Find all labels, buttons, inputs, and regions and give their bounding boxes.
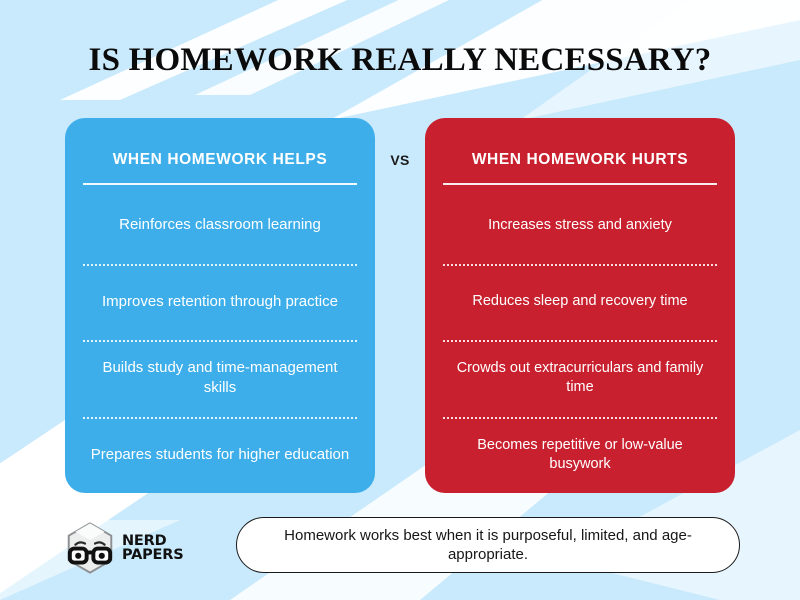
caption-text: Homework works best when it is purposefu… <box>263 526 713 565</box>
pros-panel-header: WHEN HOMEWORK HELPS <box>79 118 361 183</box>
footer: NERD PAPERS Homework works best when it … <box>0 505 800 600</box>
page-title: IS HOMEWORK REALLY NECESSARY? <box>0 42 800 79</box>
nerd-face-hexagon-icon <box>62 520 118 576</box>
pros-list: Reinforces classroom learning Improves r… <box>79 185 361 493</box>
brand-name-line2: PAPERS <box>122 548 183 563</box>
vs-label: VS <box>375 152 425 168</box>
list-item: Increases stress and anxiety <box>439 187 721 264</box>
pros-panel: WHEN HOMEWORK HELPS Reinforces classroom… <box>65 118 375 493</box>
list-item: Reduces sleep and recovery time <box>439 264 721 341</box>
left-pupil-icon <box>75 553 81 559</box>
cons-panel: WHEN HOMEWORK HURTS Increases stress and… <box>425 118 735 493</box>
cons-list: Increases stress and anxiety Reduces sle… <box>439 185 721 493</box>
right-pupil-icon <box>99 553 105 559</box>
list-item: Improves retention through practice <box>79 264 361 341</box>
brand-wordmark: NERD PAPERS <box>122 534 183 563</box>
list-item: Reinforces classroom learning <box>79 187 361 264</box>
brand-name-line1: NERD <box>122 534 183 549</box>
cons-panel-header: WHEN HOMEWORK HURTS <box>439 118 721 183</box>
list-item: Prepares students for higher education <box>79 417 361 494</box>
comparison-container: WHEN HOMEWORK HELPS Reinforces classroom… <box>65 118 735 493</box>
list-item: Becomes repetitive or low-value busywork <box>439 417 721 494</box>
list-item: Builds study and time-management skills <box>79 340 361 417</box>
caption-box: Homework works best when it is purposefu… <box>236 517 740 573</box>
panel-divider-gap: VS <box>375 118 425 493</box>
brand-logo: NERD PAPERS <box>62 520 183 576</box>
list-item: Crowds out extracurriculars and family t… <box>439 340 721 417</box>
